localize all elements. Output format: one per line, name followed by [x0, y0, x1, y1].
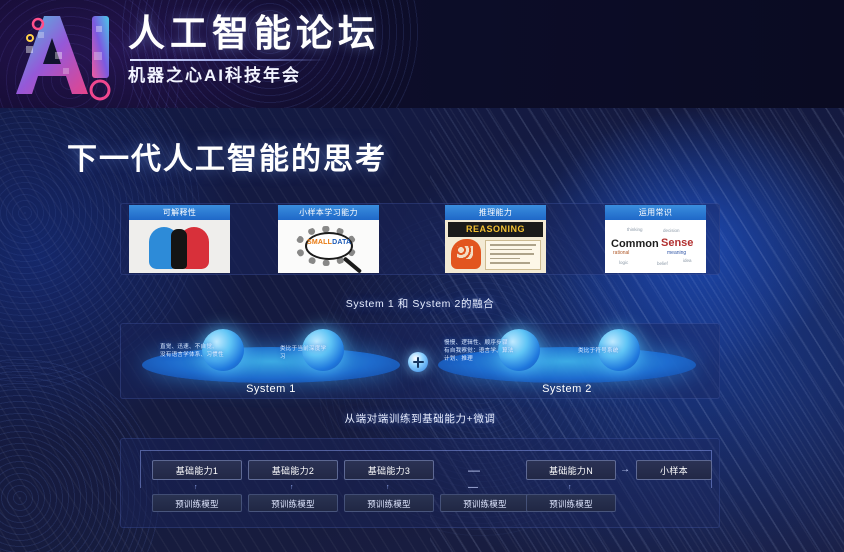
system-2-group[interactable]: 慢慢、逻辑性、顺序步骤有自我察觉：语言学、算法计划、推理 类比于符号系统 Sys…: [438, 329, 696, 393]
reasoning-banner: REASONING: [448, 222, 543, 237]
word-sense: Sense: [661, 237, 693, 249]
caption-system-fusion: System 1 和 System 2的融合: [120, 296, 720, 311]
card-image-faces: [129, 220, 230, 273]
data-text: DATA: [332, 239, 351, 246]
page-title: 下一代人工智能的思考: [67, 134, 387, 178]
word-cloud-item: thinking: [627, 227, 643, 232]
magnifier-lens-icon: [305, 232, 353, 260]
magnifier-handle-icon: [343, 256, 362, 273]
capability-card-interpretability[interactable]: 可解释性: [129, 205, 230, 273]
word-cloud-item: idea: [683, 258, 692, 263]
word-cloud-item: rational: [613, 250, 629, 256]
capability-chain-diagram: 基础能力1 基础能力2 基础能力3 — 基础能力N → 小样本 ↑ ↑ ↑ — …: [120, 438, 720, 528]
forum-subtitle: 机器之心AI科技年会: [128, 65, 380, 87]
chain-uparrow-1: ↑: [194, 484, 198, 492]
slide-body: 下一代人工智能的思考 可解释性 小样本学习能力: [0, 108, 844, 552]
system-1-text-left: 直觉、迅速、不自觉、没有语言学体系、习惯性: [160, 343, 224, 359]
word-cloud-item: logic: [619, 260, 628, 265]
capability-card-list: 可解释性 小样本学习能力: [120, 202, 720, 276]
chain-pretrain-box-5[interactable]: 预训练模型: [526, 494, 616, 512]
system-1-text-right: 类比于当前深度学习: [280, 345, 326, 361]
slide-screenshot: 人工智能论坛 机器之心AI科技年会 下一代人工智能的思考 可解释性: [0, 0, 844, 552]
forum-title: 人工智能论坛: [128, 12, 380, 56]
chain-uparrow-n: ↑: [568, 484, 572, 492]
card-title: 可解释性: [129, 205, 230, 220]
card-title: 小样本学习能力: [278, 205, 379, 220]
word-cloud-item: decision: [663, 228, 680, 233]
plus-connector-icon: [408, 352, 428, 372]
chain-pretrain-box-1[interactable]: 预训练模型: [152, 494, 242, 512]
chain-capability-box-1[interactable]: 基础能力1: [152, 460, 242, 480]
system-2-label: System 2: [438, 383, 696, 395]
systems-diagram: 直觉、迅速、不自觉、没有语言学体系、习惯性 类比于当前深度学习 System 1…: [120, 323, 720, 399]
chain-output-box[interactable]: 小样本: [636, 460, 712, 480]
capability-card-common-sense[interactable]: 运用常识 Common Sense rational meaning think…: [605, 205, 706, 273]
card-image-word-cloud: Common Sense rational meaning thinking d…: [605, 220, 706, 273]
head-silhouette-dark-icon: [171, 229, 187, 269]
chain-capability-box-n[interactable]: 基础能力N: [526, 460, 616, 480]
system-2-text-left: 慢慢、逻辑性、顺序步骤有自我察觉：语言学、算法计划、推理: [444, 339, 514, 363]
chain-uparrow-3: ↑: [386, 484, 390, 492]
capability-card-few-shot-learning[interactable]: 小样本学习能力 SMALLDATA: [278, 205, 379, 273]
small-data-label: SMALLDATA: [307, 239, 351, 246]
chain-pretrain-box-2[interactable]: 预训练模型: [248, 494, 338, 512]
chain-uparrow-2: ↑: [290, 484, 294, 492]
chain-ellipsis-top: —: [468, 460, 480, 480]
chain-pretrain-box-3[interactable]: 预训练模型: [344, 494, 434, 512]
system-2-text-right: 类比于符号系统: [578, 347, 619, 355]
reasoning-text: REASONING: [448, 222, 543, 237]
event-header-banner: 人工智能论坛 机器之心AI科技年会: [0, 0, 844, 108]
card-image-small-data: SMALLDATA: [278, 220, 379, 273]
chain-capability-box-3[interactable]: 基础能力3: [344, 460, 434, 480]
reasoning-text-card: [485, 240, 541, 270]
chain-capability-box-2[interactable]: 基础能力2: [248, 460, 338, 480]
capability-card-reasoning[interactable]: 推理能力 REASONING: [445, 205, 546, 273]
header-text-block: 人工智能论坛 机器之心AI科技年会: [128, 12, 380, 87]
system-1-group[interactable]: 直觉、迅速、不自觉、没有语言学体系、习惯性 类比于当前深度学习 System 1: [142, 329, 400, 393]
card-title: 运用常识: [605, 205, 706, 220]
caption-pretrain-finetune: 从端对端训练到基础能力+微调: [120, 411, 720, 426]
small-text: SMALL: [307, 239, 332, 246]
card-title: 推理能力: [445, 205, 546, 220]
word-cloud-item: meaning: [667, 250, 686, 256]
header-divider: [130, 59, 326, 61]
ai-mosaic-logo-icon: [8, 6, 126, 102]
word-common: Common: [611, 238, 659, 250]
word-cloud-item: belief: [657, 261, 668, 266]
chain-pretrain-box-4[interactable]: 预训练模型: [440, 494, 530, 512]
card-image-reasoning: REASONING: [445, 220, 546, 273]
brain-head-icon: [451, 239, 481, 269]
system-1-label: System 1: [142, 383, 400, 395]
chain-arrow-icon: →: [620, 460, 630, 480]
